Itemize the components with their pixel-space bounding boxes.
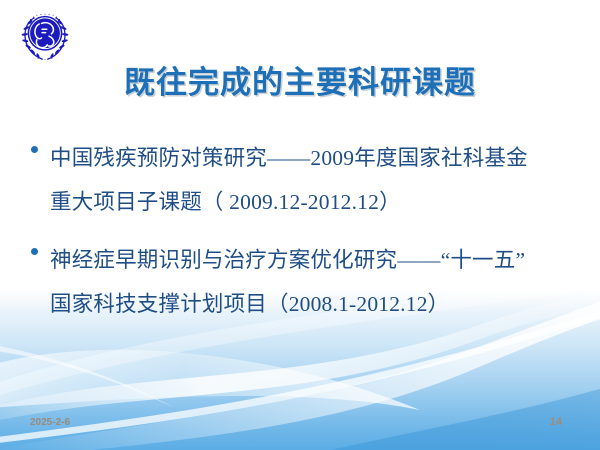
bullet-text-2: 神经症早期识别与治疗方案优化研究——“十一五” 国家科技支撑计划项目（2008.…	[50, 238, 582, 326]
bullet-item-2: 神经症早期识别与治疗方案优化研究——“十一五” 国家科技支撑计划项目（2008.…	[28, 238, 582, 326]
bullet-marker-icon	[28, 136, 50, 153]
organization-logo	[16, 6, 74, 64]
slide-title: 既往完成的主要科研课题	[0, 57, 600, 102]
slide-body: 中国残疾预防对策研究——2009年度国家社科基金 重大项目子课题（ 2009.1…	[28, 136, 582, 340]
bullet-item-1: 中国残疾预防对策研究——2009年度国家社科基金 重大项目子课题（ 2009.1…	[28, 136, 582, 224]
bullet-marker-icon	[28, 238, 50, 255]
bullet-2-line-1: 神经症早期识别与治疗方案优化研究——“十一五”	[50, 238, 582, 282]
bullet-1-line-1: 中国残疾预防对策研究——2009年度国家社科基金	[50, 136, 582, 180]
bullet-1-line-2: 重大项目子课题（ 2009.12-2012.12）	[50, 180, 582, 224]
slide-canvas: 既往完成的主要科研课题 中国残疾预防对策研究——2009年度国家社科基金 重大项…	[0, 0, 600, 450]
bullet-text-1: 中国残疾预防对策研究——2009年度国家社科基金 重大项目子课题（ 2009.1…	[50, 136, 582, 224]
bullet-2-line-2: 国家科技支撑计划项目（2008.1-2012.12）	[50, 282, 582, 326]
footer-page-number: 14	[550, 416, 562, 428]
footer-date: 2025-2-6	[30, 417, 70, 428]
